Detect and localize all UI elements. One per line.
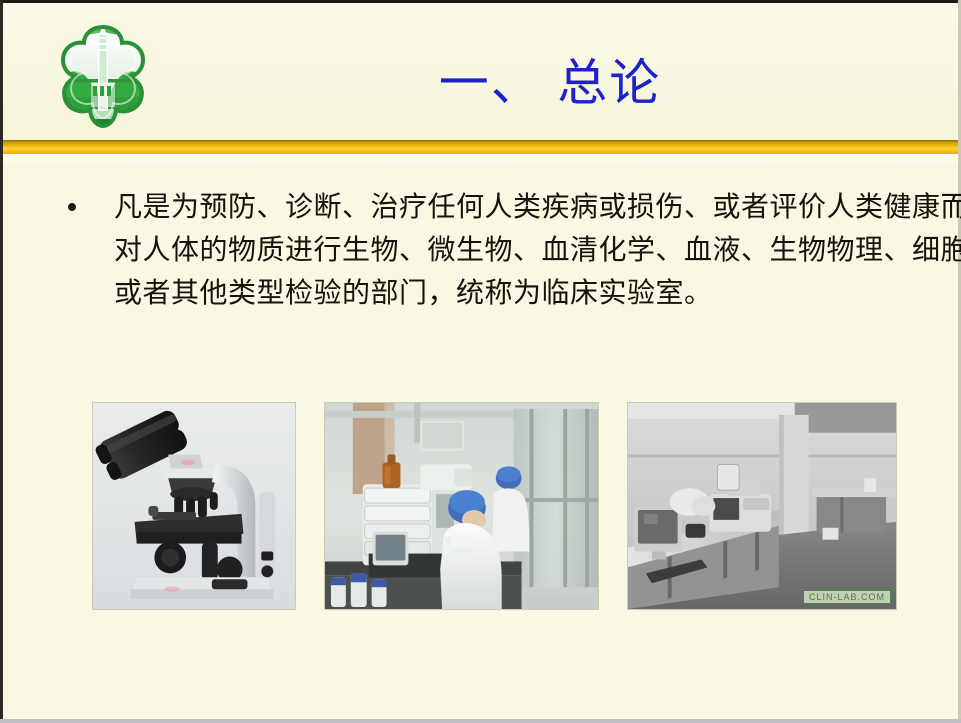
institution-logo bbox=[44, 17, 162, 135]
bullet-paragraph: 凡是为预防、诊断、治疗任何人类疾病或损伤、或者评价人类健康而 对人体的物质进行生… bbox=[114, 186, 961, 315]
photo-clinical-lab-room: CLIN-LAB.COM bbox=[627, 402, 897, 610]
body-line-1: 凡是为预防、诊断、治疗任何人类疾病或损伤、或者评价人类健康而 bbox=[114, 186, 961, 229]
slide-bottom-edge bbox=[0, 719, 961, 723]
body-content: 凡是为预防、诊断、治疗任何人类疾病或损伤、或者评价人类健康而 对人体的物质进行生… bbox=[68, 186, 948, 315]
bullet-dot-icon bbox=[68, 203, 76, 211]
bullet-list-item: 凡是为预防、诊断、治疗任何人类疾病或损伤、或者评价人类健康而 对人体的物质进行生… bbox=[68, 186, 948, 315]
photo-lab-technicians bbox=[324, 402, 599, 610]
gold-divider-bar bbox=[3, 140, 958, 154]
presentation-slide: 一、 总论 凡是为预防、诊断、治疗任何人类疾病或损伤、或者评价人类健康而 对人体… bbox=[0, 0, 961, 723]
photo-strip: CLIN-LAB.COM bbox=[92, 402, 892, 610]
page-title: 一、 总论 bbox=[200, 52, 900, 114]
gold-divider-highlight bbox=[3, 154, 958, 163]
photo-laboratory-microscope bbox=[92, 402, 296, 610]
body-line-3: 或者其他类型检验的部门，统称为临床实验室。 bbox=[114, 272, 961, 315]
body-line-2: 对人体的物质进行生物、微生物、血清化学、血液、生物物理、细胞 bbox=[114, 229, 961, 272]
photo-watermark: CLIN-LAB.COM bbox=[803, 590, 891, 604]
